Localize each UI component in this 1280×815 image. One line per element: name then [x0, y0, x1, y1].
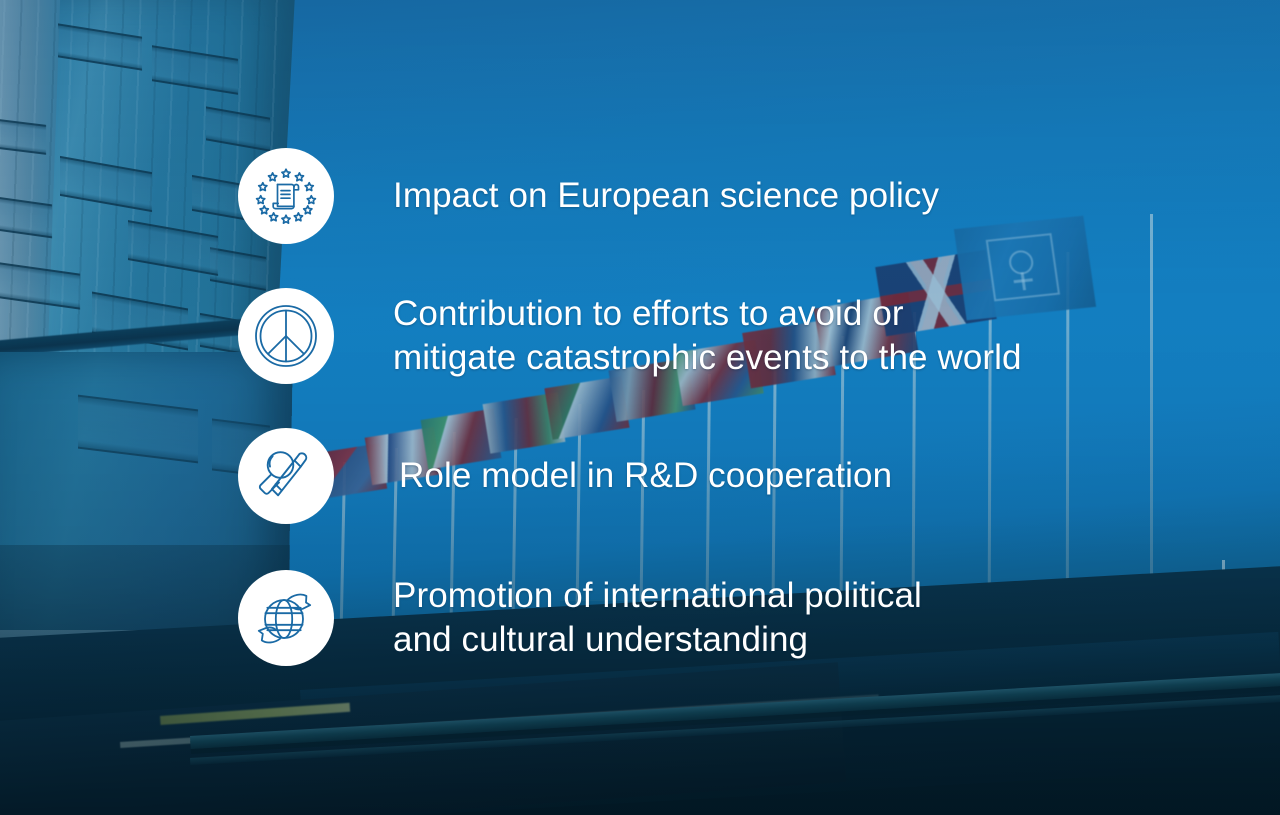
globe-dialogue-icon [238, 570, 334, 666]
bullet-row-4: Promotion of international political and… [238, 570, 922, 666]
bullet-text-4: Promotion of international political and… [393, 574, 922, 662]
magnifier-pencil-icon [238, 428, 334, 524]
bullet-row-2: Contribution to efforts to avoid or miti… [238, 288, 1022, 384]
bullet-row-3: Role model in R&D cooperation [238, 428, 892, 524]
bullet-text-3: Role model in R&D cooperation [399, 454, 892, 498]
peace-symbol-icon [238, 288, 334, 384]
bullet-text-1: Impact on European science policy [393, 174, 939, 218]
presentation-slide: Impact on European science policy Contri… [0, 0, 1280, 815]
bullet-text-2: Contribution to efforts to avoid or miti… [393, 292, 1022, 380]
eu-stars-scroll-icon [238, 148, 334, 244]
bullet-row-1: Impact on European science policy [238, 148, 939, 244]
bullet-list: Impact on European science policy Contri… [0, 0, 1280, 815]
